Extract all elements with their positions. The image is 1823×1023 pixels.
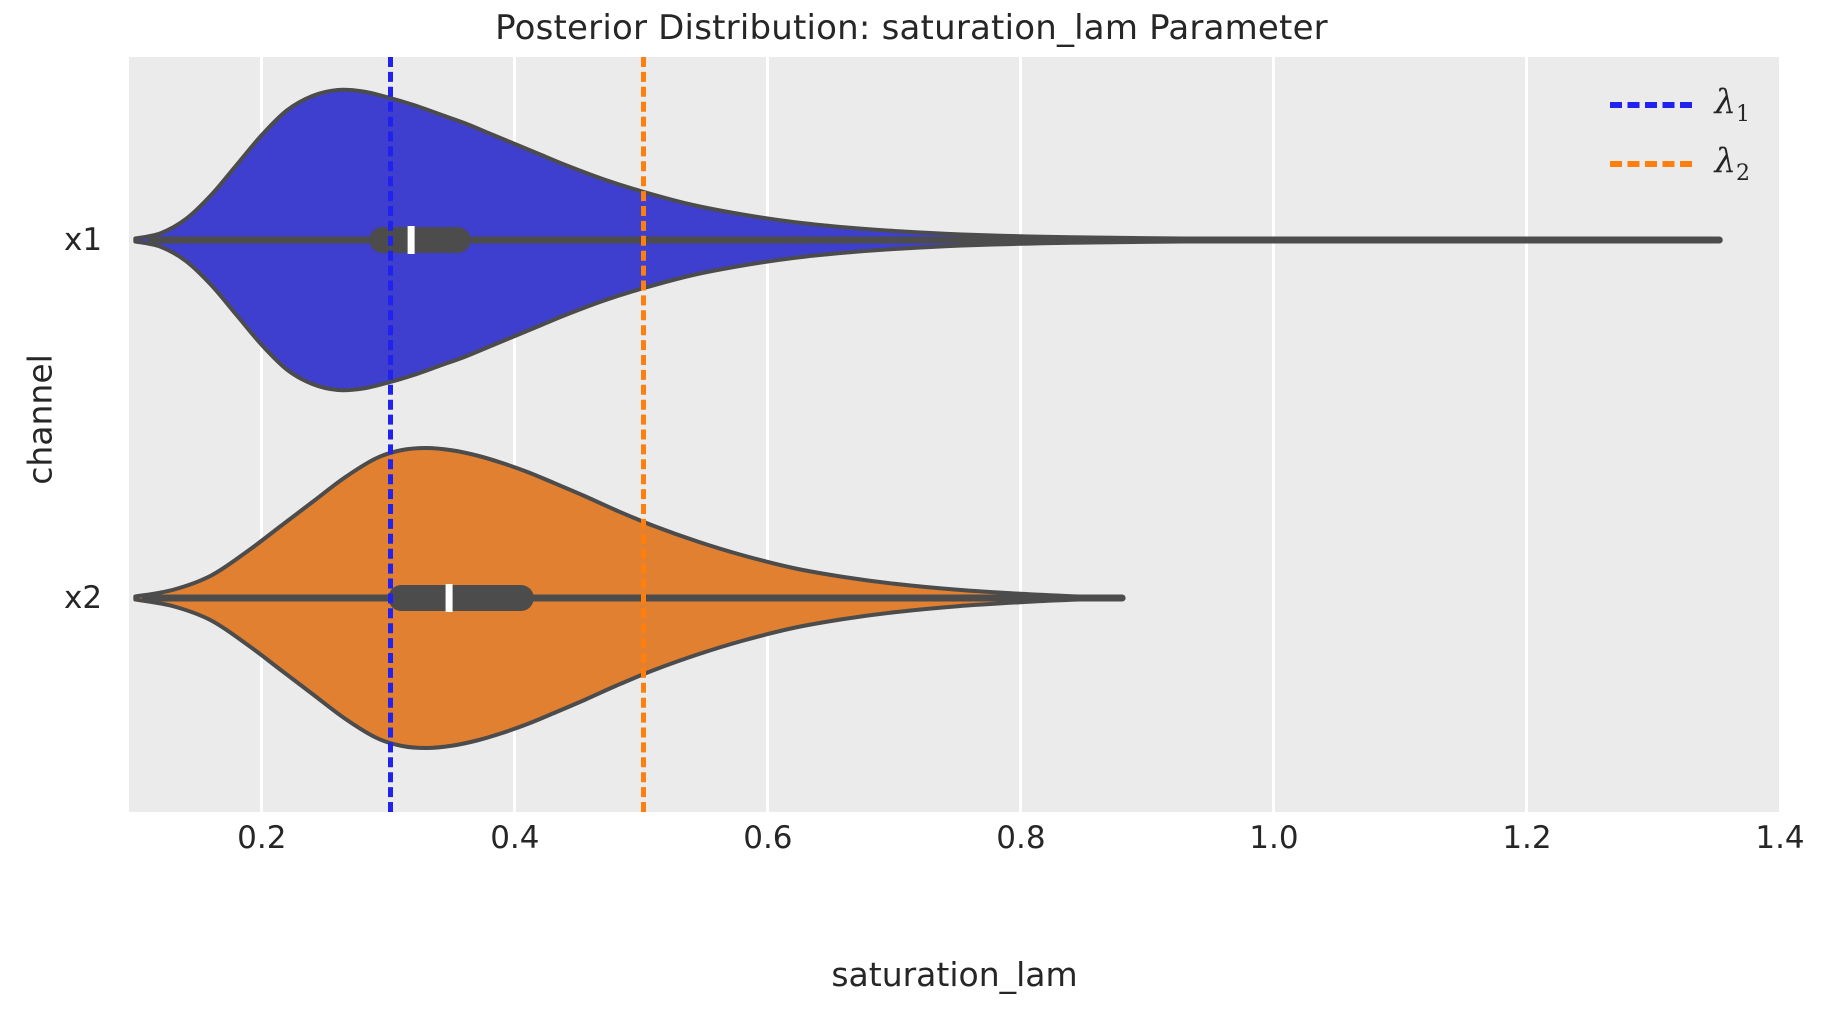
x-tick-1.4: 1.4: [1755, 820, 1804, 856]
x-tick-1.2: 1.2: [1502, 820, 1551, 856]
iqr-box-x2: [388, 585, 533, 611]
legend-item-lambda-1[interactable]: λ1: [1610, 85, 1750, 126]
y-tick-x2: x2: [64, 580, 102, 616]
x-tick-1.0: 1.0: [1249, 820, 1298, 856]
x-tick-0.6: 0.6: [743, 820, 792, 856]
violin-x1: [135, 90, 1719, 391]
x-tick-0.8: 0.8: [996, 820, 1045, 856]
legend-item-lambda-2[interactable]: λ2: [1610, 144, 1750, 185]
figure-canvas: Posterior Distribution: saturation_lam P…: [0, 0, 1823, 1023]
median-marker-x1: [408, 226, 415, 254]
x-tick-0.2: 0.2: [237, 820, 286, 856]
page-title: Posterior Distribution: saturation_lam P…: [0, 8, 1823, 48]
legend-dash-icon-lambda-2: [1610, 161, 1692, 167]
legend-dash-icon-lambda-1: [1610, 102, 1692, 108]
legend-label-lambda-1: λ1: [1714, 85, 1750, 126]
y-axis-label: channel: [21, 220, 60, 620]
reference-line-lambda_1: [388, 57, 393, 812]
violin-plot-series: [129, 57, 1780, 812]
legend-label-lambda-2: λ2: [1714, 144, 1750, 185]
x-axis-label: saturation_lam: [129, 955, 1780, 994]
reference-line-lambda_2: [641, 57, 646, 812]
iqr-box-x1: [369, 227, 470, 253]
x-tick-0.4: 0.4: [490, 820, 539, 856]
y-tick-x1: x1: [64, 222, 102, 258]
plot-area: λ1 λ2: [129, 57, 1780, 812]
legend: λ1 λ2: [1600, 75, 1764, 195]
violin-x2: [135, 448, 1122, 748]
median-marker-x2: [446, 584, 453, 612]
